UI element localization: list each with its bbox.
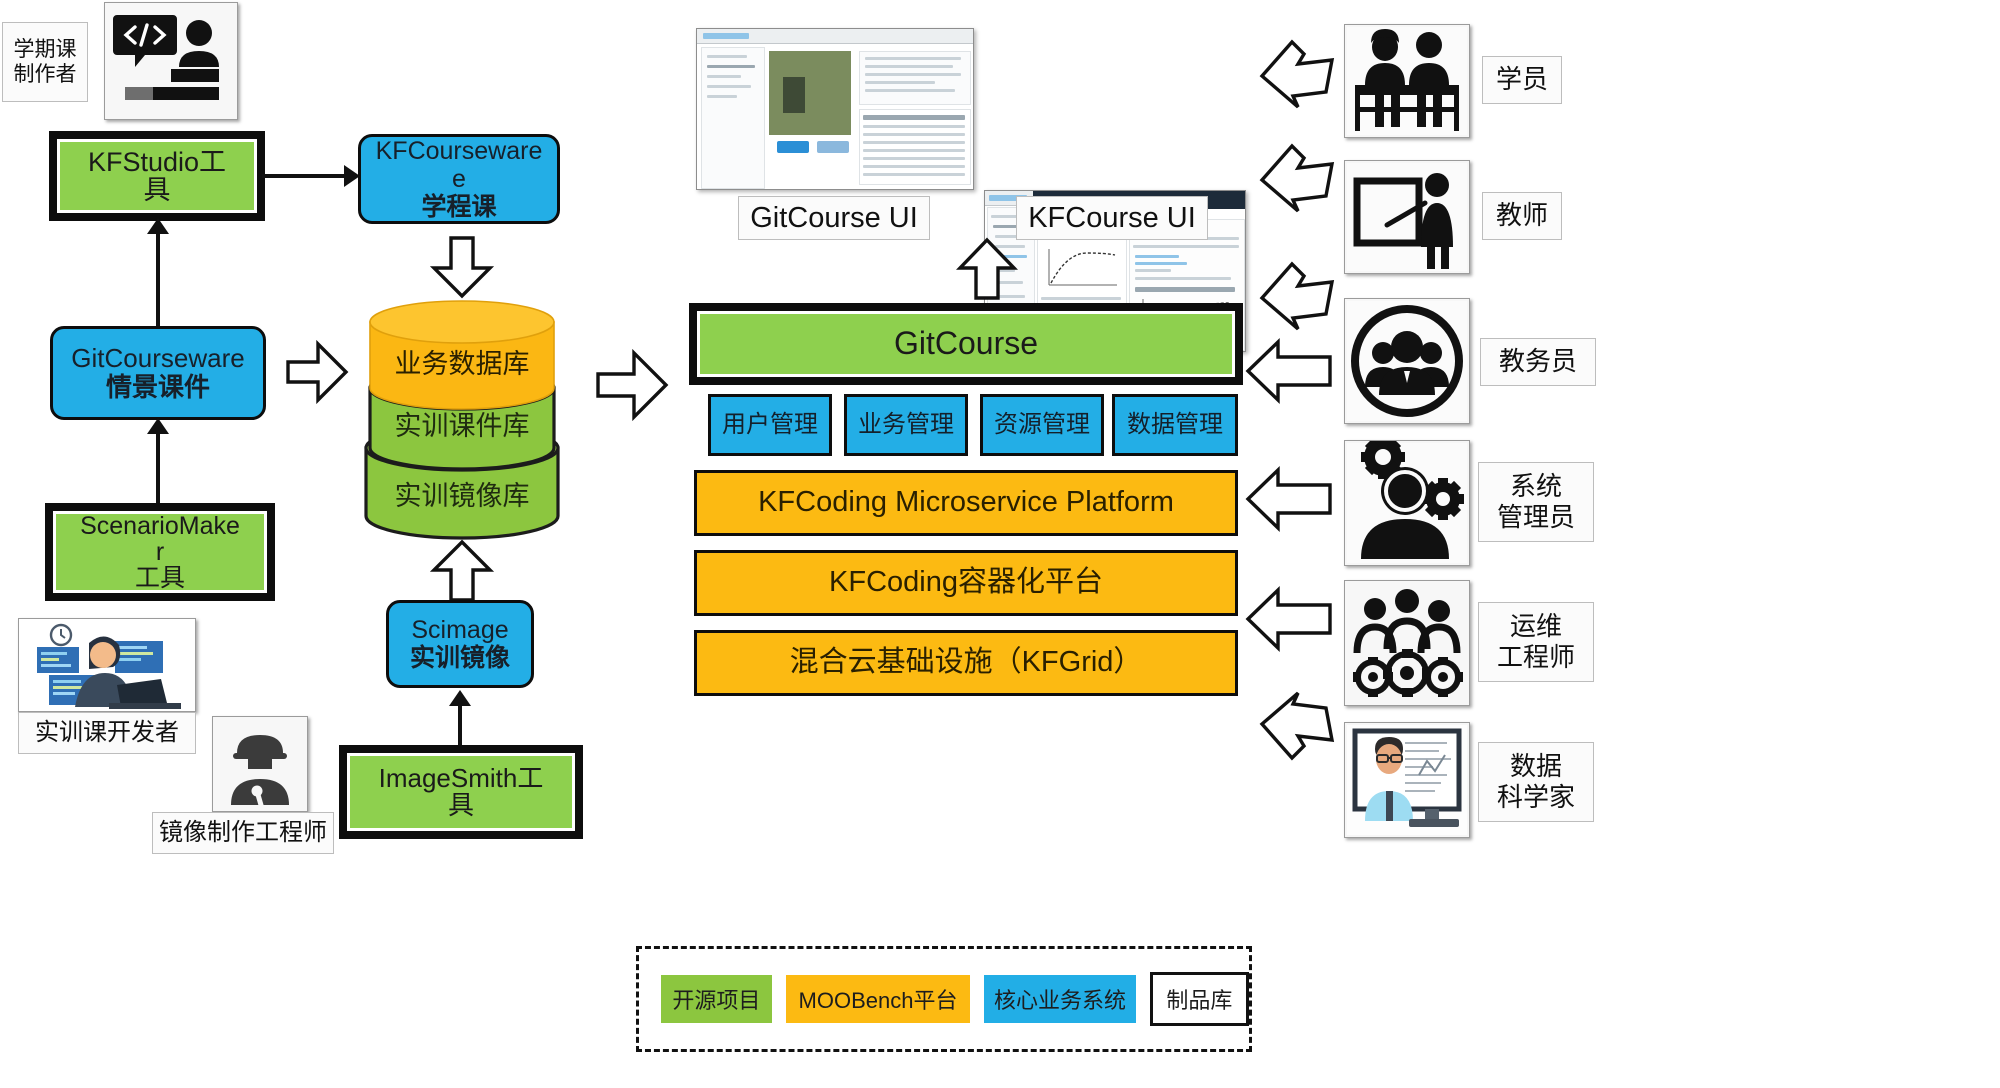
block-arrow-db-to-platform	[596, 350, 668, 422]
team-gears-icon	[1344, 580, 1470, 706]
code-teacher-icon	[104, 2, 238, 120]
legend-item-artifact-repo: 制品库	[1150, 972, 1249, 1026]
developer-caption-text: 实训课开发者	[35, 719, 179, 748]
stakeholder-label-teacher-text: 教师	[1496, 200, 1548, 231]
code-teacher-glyph	[111, 9, 231, 113]
gitcourseware-line1: GitCourseware	[71, 344, 244, 373]
imagesmith-line2: 具	[448, 792, 474, 819]
layer-hybrid-cloud-infra-label: 混合云基础设施（KFGrid）	[790, 647, 1143, 679]
stakeholder-label-datascientist: 数据 科学家	[1478, 742, 1594, 822]
legend-item-moobench-label: MOOBench平台	[799, 983, 958, 1015]
gitcourseware-line2: 情景课件	[106, 373, 210, 402]
legend-item-open-source: 开源项目	[661, 975, 772, 1023]
scimage-line1: Scimage	[411, 616, 508, 644]
layer-hybrid-cloud-infra[interactable]: 混合云基础设施（KFGrid）	[694, 630, 1238, 696]
module-resource-management-label: 资源管理	[994, 412, 1090, 438]
admin-group-circle-icon	[1344, 298, 1470, 424]
teacher-glyph	[1347, 163, 1467, 271]
layer-container-platform-label: KFCoding容器化平台	[829, 567, 1103, 599]
module-resource-management[interactable]: 资源管理	[980, 394, 1104, 456]
kfcourse-ui-caption-text: KFCourse UI	[1028, 201, 1196, 236]
connector-kfstudio-to-kfcourseware	[262, 174, 346, 178]
stakeholder-label-devops-text: 运维 工程师	[1497, 611, 1575, 673]
block-arrow-datascientist	[1258, 690, 1338, 766]
stakeholder-label-sysadmin: 系统 管理员	[1478, 462, 1594, 542]
gitcourse-ui-screenshot	[696, 28, 974, 190]
students-glyph	[1347, 27, 1467, 135]
layer-container-platform[interactable]: KFCoding容器化平台	[694, 550, 1238, 616]
legend-item-open-source-label: 开源项目	[672, 983, 760, 1015]
stakeholder-label-devops: 运维 工程师	[1478, 602, 1594, 682]
stakeholder-label-academic-admin: 教务员	[1480, 338, 1596, 386]
block-arrow-devops-to-platform	[1246, 588, 1332, 650]
block-arrow-admin-to-platform	[1246, 340, 1332, 402]
stakeholder-label-teacher: 教师	[1482, 192, 1562, 240]
person-gears-glyph	[1347, 443, 1467, 563]
db-label-business: 业务数据库	[358, 342, 566, 381]
block-arrow-kfcourseware-to-db	[432, 236, 492, 298]
stakeholder-label-datascientist-text: 数据 科学家	[1497, 751, 1575, 813]
connector-scenariomaker-to-gitcourseware	[156, 428, 160, 510]
scenariomaker-line2: 工具	[135, 565, 185, 591]
legend: 开源项目 MOOBench平台 核心业务系统 制品库	[636, 946, 1252, 1052]
gitcourse-ui-caption-text: GitCourse UI	[750, 201, 918, 236]
layer-microservice-platform[interactable]: KFCoding Microservice Platform	[694, 470, 1238, 536]
block-arrow-teacher	[1258, 138, 1338, 214]
developer-at-desk-icon	[18, 618, 196, 712]
kfstudio-line1: KFStudio工	[88, 148, 226, 176]
block-arrow-academic-admin	[1258, 256, 1338, 332]
producer-label-chip: 学期课 制作者	[2, 22, 88, 102]
data-scientist-monitor-icon	[1344, 722, 1470, 838]
arrow-scenariomaker-to-gitcourseware	[147, 418, 169, 434]
gitcourse-platform-top-label: GitCourse	[894, 327, 1038, 361]
module-user-management-label: 用户管理	[722, 412, 818, 438]
hardhat-worker-icon	[212, 716, 308, 812]
producer-label-text: 学期课 制作者	[14, 37, 77, 87]
scimage-box[interactable]: Scimage 实训镜像	[386, 600, 534, 688]
module-business-management[interactable]: 业务管理	[844, 394, 968, 456]
module-data-management[interactable]: 数据管理	[1112, 394, 1238, 456]
imagesmith-tool-box[interactable]: ImageSmith工 具	[344, 750, 578, 834]
kfcourseware-line1: KFCourseware	[376, 137, 543, 165]
legend-item-core-business: 核心业务系统	[984, 975, 1136, 1023]
stakeholder-label-student: 学员	[1482, 56, 1562, 104]
module-user-management[interactable]: 用户管理	[708, 394, 832, 456]
image-engineer-caption-text: 镜像制作工程师	[159, 819, 327, 848]
developer-glyph	[19, 619, 195, 711]
scenariomaker-tool-box[interactable]: ScenarioMake r 工具	[50, 508, 270, 596]
stakeholder-label-student-text: 学员	[1496, 64, 1548, 95]
stakeholder-label-academic-admin-text: 教务员	[1499, 346, 1577, 377]
module-business-management-label: 业务管理	[858, 412, 954, 438]
data-scientist-glyph	[1347, 725, 1467, 835]
teacher-whiteboard-icon	[1344, 160, 1470, 274]
arrow-gitcourseware-to-kfstudio	[147, 218, 169, 234]
legend-item-core-business-label: 核心业务系统	[994, 983, 1126, 1015]
layer-microservice-platform-label: KFCoding Microservice Platform	[758, 487, 1174, 519]
stakeholder-label-sysadmin-text: 系统 管理员	[1497, 471, 1575, 533]
scimage-line2: 实训镜像	[410, 644, 510, 672]
database-stack: 业务数据库 实训课件库 实训镜像库	[358, 296, 566, 540]
kfcourseware-line1b: e	[452, 165, 466, 193]
person-gears-icon	[1344, 440, 1470, 566]
block-arrow-gitcourseware-to-db	[286, 340, 348, 404]
gitcourse-platform-top[interactable]: GitCourse	[694, 308, 1238, 380]
gitcourseware-box[interactable]: GitCourseware 情景课件	[50, 326, 266, 420]
hardhat-worker-glyph	[217, 721, 303, 807]
imagesmith-line1: ImageSmith工	[379, 765, 544, 792]
connector-gitcourseware-to-kfstudio	[156, 228, 160, 326]
block-arrow-scimage-to-db	[432, 540, 492, 602]
scenariomaker-line1: ScenarioMake	[80, 513, 240, 539]
kfcourse-ui-caption: KFCourse UI	[1016, 196, 1208, 240]
developer-caption: 实训课开发者	[18, 712, 196, 754]
arrow-imagesmith-to-scimage	[449, 690, 471, 706]
kfcourseware-box[interactable]: KFCourseware e 学程课	[358, 134, 560, 224]
connector-imagesmith-to-scimage	[458, 700, 462, 750]
gitcourse-ui-caption: GitCourse UI	[738, 196, 930, 240]
module-data-management-label: 数据管理	[1127, 412, 1223, 438]
kfcourseware-line2: 学程课	[421, 193, 496, 221]
kfstudio-tool-box[interactable]: KFStudio工 具	[54, 136, 260, 216]
scenariomaker-line1b: r	[156, 539, 164, 565]
team-gears-glyph	[1347, 583, 1467, 703]
legend-item-moobench: MOOBench平台	[786, 975, 971, 1023]
db-label-courseware: 实训课件库	[358, 404, 566, 443]
students-at-desk-icon	[1344, 24, 1470, 138]
kfcourse-chart-glyph	[1041, 245, 1121, 291]
block-arrow-student	[1258, 34, 1338, 110]
block-arrow-platform-to-ui	[958, 238, 1016, 300]
block-arrow-sysadmin-to-platform	[1246, 468, 1332, 530]
image-engineer-caption: 镜像制作工程师	[152, 812, 334, 854]
legend-item-artifact-repo-label: 制品库	[1166, 983, 1232, 1015]
kfstudio-line2: 具	[144, 176, 171, 204]
admin-group-glyph	[1347, 301, 1467, 421]
db-label-image: 实训镜像库	[358, 474, 566, 513]
